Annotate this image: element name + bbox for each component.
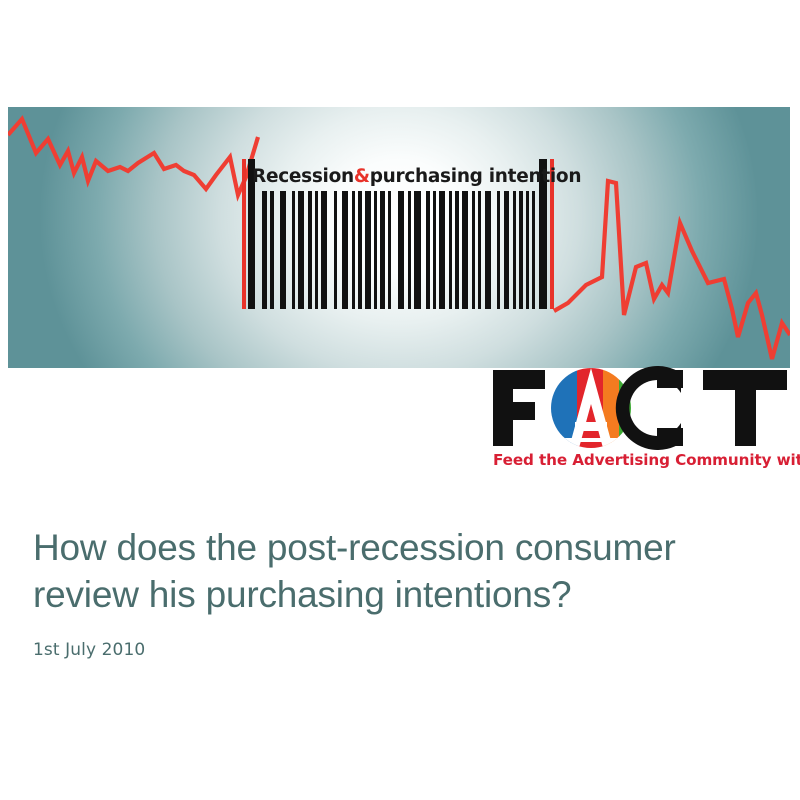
logo-letter-c	[616, 366, 683, 450]
barcode-caption-ampersand: &	[354, 166, 370, 187]
barcode-caption-part-2: purchasing intention	[370, 166, 582, 187]
trend-line-right	[554, 181, 790, 359]
barcode-caption-part-1: Recession	[252, 166, 354, 187]
title-block: How does the post-recession consumer rev…	[33, 524, 753, 660]
page-title: How does the post-recession consumer rev…	[33, 524, 753, 618]
logo-letter-f	[493, 370, 545, 446]
fact-logo-tagline: Feed the Advertising Community with Tren…	[493, 451, 793, 469]
slide-canvas: Recession & purchasing intention	[0, 0, 800, 800]
fact-wordmark	[489, 366, 794, 450]
barcode-caption: Recession & purchasing intention	[252, 162, 552, 190]
fact-logo: Feed the Advertising Community with Tren…	[489, 366, 794, 474]
hero-banner: Recession & purchasing intention	[8, 107, 790, 368]
fact-wordmark-artwork	[489, 366, 794, 450]
trend-line-left	[8, 119, 258, 195]
logo-letter-t	[703, 370, 787, 446]
hero-artwork	[8, 107, 790, 368]
slide-date: 1st July 2010	[33, 640, 753, 660]
barcode-guard-left	[242, 159, 246, 309]
